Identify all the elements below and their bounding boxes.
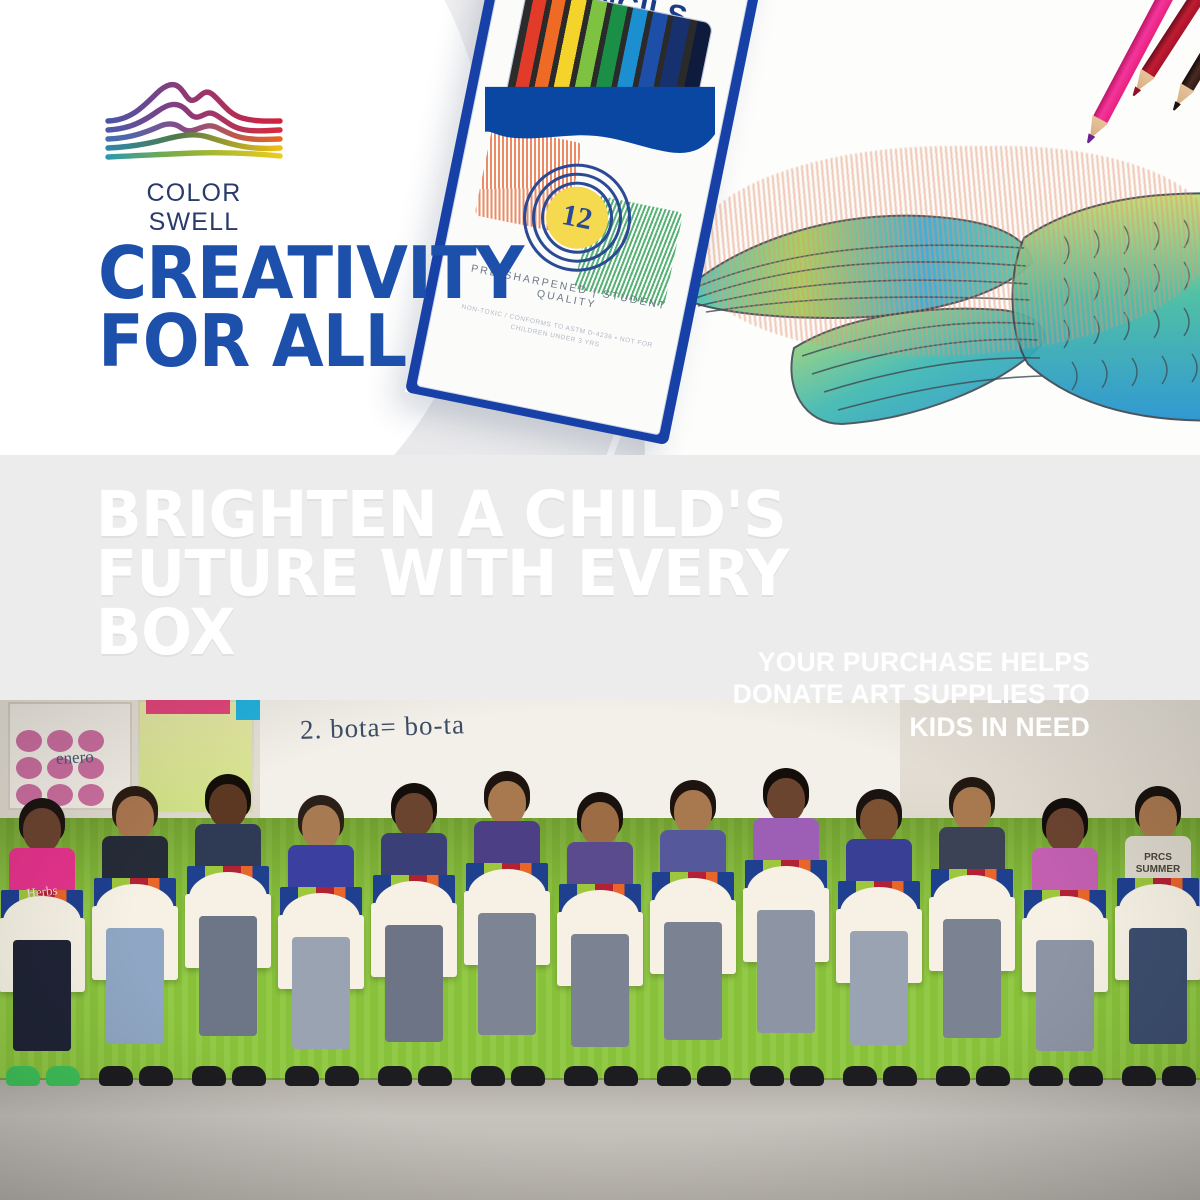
hero-headline-line-1: CREATIVITY [98, 240, 523, 308]
band-subtext: YOUR PURCHASE HELPS DONATE ART SUPPLIES … [670, 646, 1090, 743]
blue-wave-band [0, 0, 1200, 230]
band-headline-line-2: FUTURE WITH EVERY BOX [96, 544, 904, 662]
band-subtext-line-3: KIDS IN NEED [670, 711, 1090, 743]
band-subtext-line-1: YOUR PURCHASE HELPS [670, 646, 1090, 678]
band-subtext-line-2: DONATE ART SUPPLIES TO [670, 678, 1090, 710]
hero-headline: CREATIVITY FOR ALL [98, 240, 555, 375]
band-headline-line-1: BRIGHTEN A CHILD'S [96, 485, 904, 544]
hero-headline-line-2: FOR ALL [98, 308, 523, 376]
band-content: BRIGHTEN A CHILD'S FUTURE WITH EVERY BOX… [0, 453, 1200, 783]
band-headline: BRIGHTEN A CHILD'S FUTURE WITH EVERY BOX [96, 485, 946, 663]
poster-canvas: COLOR SWELL COLORED PENCILS 12 PRE-SHARP… [0, 0, 1200, 1200]
